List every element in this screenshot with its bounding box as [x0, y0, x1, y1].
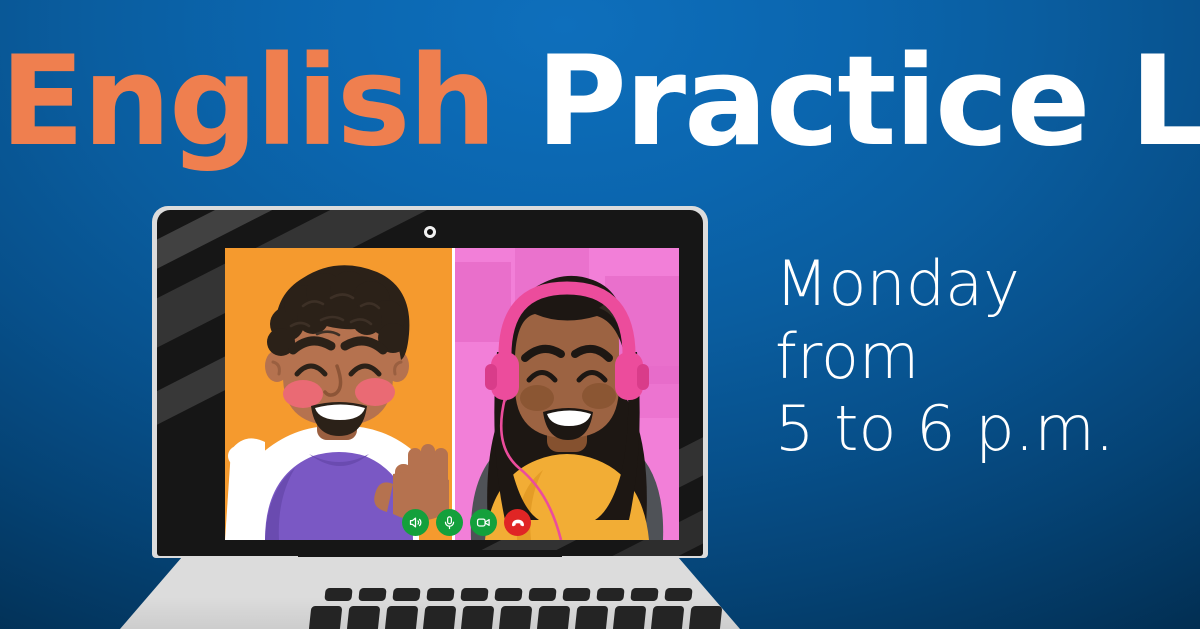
key[interactable]	[689, 606, 723, 629]
key[interactable]	[499, 606, 533, 629]
key[interactable]	[461, 606, 495, 629]
speaker-button[interactable]	[402, 509, 429, 536]
key[interactable]	[494, 588, 522, 601]
key[interactable]	[426, 588, 454, 601]
schedule-line-time: 5 to 6 p.m.	[775, 393, 1175, 466]
call-controls	[402, 509, 531, 536]
webcam-icon	[424, 226, 436, 238]
laptop-lid-bezel	[157, 210, 703, 556]
key[interactable]	[528, 588, 556, 601]
video-pane-right[interactable]	[455, 248, 679, 540]
key[interactable]	[575, 606, 609, 629]
key[interactable]	[664, 588, 692, 601]
pane-divider	[452, 248, 455, 540]
title-word-practice-lab: Practice Lab	[536, 30, 1200, 174]
key[interactable]	[562, 588, 590, 601]
participant-left-illustration	[225, 248, 452, 540]
video-camera-icon	[476, 515, 491, 530]
key[interactable]	[613, 606, 647, 629]
key[interactable]	[392, 588, 420, 601]
poster-canvas: English Practice Lab Monday from 5 to 6 …	[0, 0, 1200, 629]
schedule-line-from: from	[775, 321, 1175, 394]
key[interactable]	[309, 606, 343, 629]
key[interactable]	[423, 606, 457, 629]
key[interactable]	[358, 588, 386, 601]
video-pane-left[interactable]	[225, 248, 452, 540]
key[interactable]	[651, 606, 685, 629]
key[interactable]	[630, 588, 658, 601]
key[interactable]	[596, 588, 624, 601]
page-title: English Practice Lab	[0, 40, 1200, 164]
key[interactable]	[537, 606, 571, 629]
key[interactable]	[460, 588, 488, 601]
speaker-icon	[408, 515, 423, 530]
microphone-button[interactable]	[436, 509, 463, 536]
schedule-text: Monday from 5 to 6 p.m.	[775, 248, 1175, 466]
microphone-icon	[442, 515, 457, 530]
key[interactable]	[385, 606, 419, 629]
camera-button[interactable]	[470, 509, 497, 536]
video-call-screen	[225, 248, 679, 540]
keyboard-row-top	[325, 588, 692, 601]
key[interactable]	[347, 606, 381, 629]
schedule-line-day: Monday	[775, 248, 1175, 321]
hangup-button[interactable]	[504, 509, 531, 536]
keyboard-row-bottom	[310, 606, 721, 629]
laptop-illustration	[120, 200, 740, 629]
title-word-english: English	[0, 30, 495, 174]
participant-right-illustration	[455, 248, 679, 540]
phone-hangup-icon	[510, 515, 526, 531]
key[interactable]	[324, 588, 352, 601]
